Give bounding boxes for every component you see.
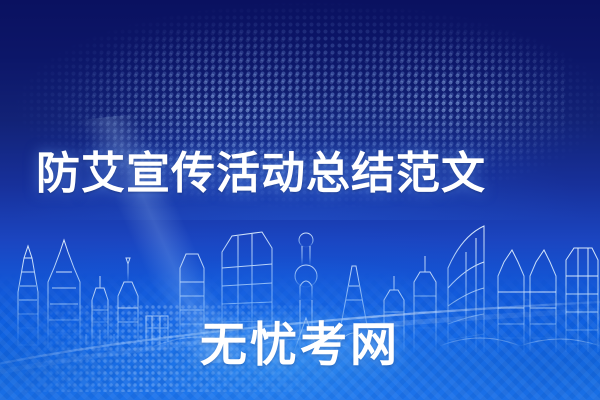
site-watermark: 无忧考网 bbox=[0, 322, 600, 369]
banner-title: 防艾宣传活动总结范文 bbox=[36, 152, 486, 196]
banner-image: 防艾宣传活动总结范文 无忧考网 bbox=[0, 0, 600, 400]
